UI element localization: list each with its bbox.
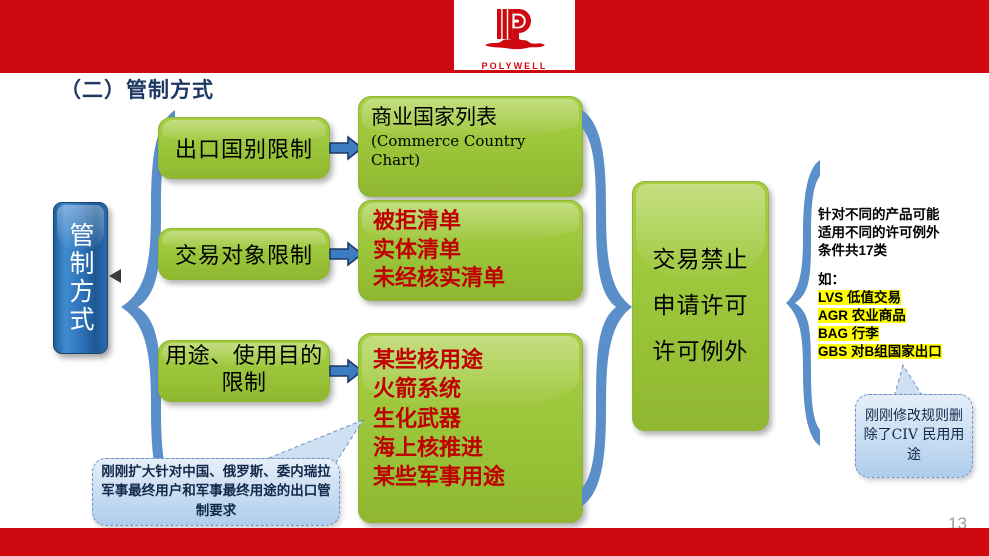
license-exception-note: 针对不同的产品可能 适用不同的许可例外 条件共17类 如： LVS 低值交易 A… [818, 206, 986, 361]
branch-label-2: 交易对象限制 [159, 238, 329, 270]
right-grouping-brace [783, 158, 823, 448]
branch-label-box-2[interactable]: 交易对象限制 [158, 228, 330, 280]
branch-target-line-3-1: 某些核用途 [373, 346, 582, 375]
page-title: （二）管制方式 [60, 74, 214, 104]
note-example-4: GBS 对B组国家出口 [818, 344, 942, 359]
branch-target-line-3-5: 某些军事用途 [373, 463, 582, 492]
branch-target-line-2-2: 实体清单 [373, 236, 582, 265]
branch-label-3: 用途、使用目的限制 [159, 344, 329, 398]
branch-target-line-3-3: 生化武器 [373, 405, 582, 434]
branch-target-line-2-1: 被拒清单 [373, 207, 582, 236]
result-line-2: 申请许可 [633, 283, 768, 329]
result-line-3: 许可例外 [633, 329, 768, 375]
branch-target-line-2-3: 未经核实清单 [373, 264, 582, 293]
branch-target-sub-1: (Commerce Country Chart) [371, 132, 570, 170]
callout-military-enduser-text: 刚刚扩大针对中国、俄罗斯、委内瑞拉军事最终用户和军事最终用途的出口管制要求 [101, 463, 331, 520]
brand-logo-text: POLYWELL [482, 61, 548, 71]
branch-target-title-1: 商业国家列表 [371, 105, 570, 131]
branch-label-1: 出口国别限制 [159, 132, 329, 164]
note-example-2: AGR 农业商品 [818, 308, 906, 323]
header-band-left [0, 0, 454, 70]
note-example-1: LVS 低值交易 [818, 290, 901, 305]
root-inlet-arrow-icon [108, 268, 122, 284]
note-example-label: 如： [818, 271, 986, 289]
footer-band [0, 528, 989, 556]
note-intro-line-2: 适用不同的许可例外 [818, 224, 986, 242]
header-band-right [575, 0, 989, 70]
brand-logo: POLYWELL [454, 0, 575, 70]
branch-target-line-3-4: 海上核推进 [373, 434, 582, 463]
branch-target-line-3-2: 火箭系统 [373, 375, 582, 404]
result-box[interactable]: 交易禁止 申请许可 许可例外 [632, 181, 769, 431]
polywell-p-logo-icon [483, 5, 547, 60]
branch-target-box-3[interactable]: 某些核用途 火箭系统 生化武器 海上核推进 某些军事用途 [358, 333, 583, 523]
middle-grouping-brace [578, 108, 634, 508]
presentation-slide: POLYWELL （二）管制方式 出口国别限制 商业国家列表 (Commerce… [0, 0, 989, 556]
result-line-1: 交易禁止 [633, 237, 768, 283]
branch-label-box-3[interactable]: 用途、使用目的限制 [158, 340, 330, 402]
callout-civ-removed: 刚刚修改规则删除了CIV 民用用途 [855, 394, 973, 478]
note-intro-line-1: 针对不同的产品可能 [818, 206, 986, 224]
note-spacer [818, 260, 986, 271]
callout-military-enduser: 刚刚扩大针对中国、俄罗斯、委内瑞拉军事最终用户和军事最终用途的出口管制要求 [92, 458, 340, 526]
root-concept-box[interactable]: 管制方式 [53, 202, 108, 354]
branch-label-box-1[interactable]: 出口国别限制 [158, 117, 330, 179]
note-example-3: BAG 行李 [818, 326, 879, 341]
note-intro-line-3: 条件共17类 [818, 242, 986, 260]
root-concept-label: 管制方式 [67, 222, 94, 334]
branch-target-box-1[interactable]: 商业国家列表 (Commerce Country Chart) [358, 96, 583, 197]
branch-target-box-2[interactable]: 被拒清单 实体清单 未经核实清单 [358, 200, 583, 301]
callout-civ-removed-text: 刚刚修改规则删除了CIV 民用用途 [863, 407, 965, 465]
